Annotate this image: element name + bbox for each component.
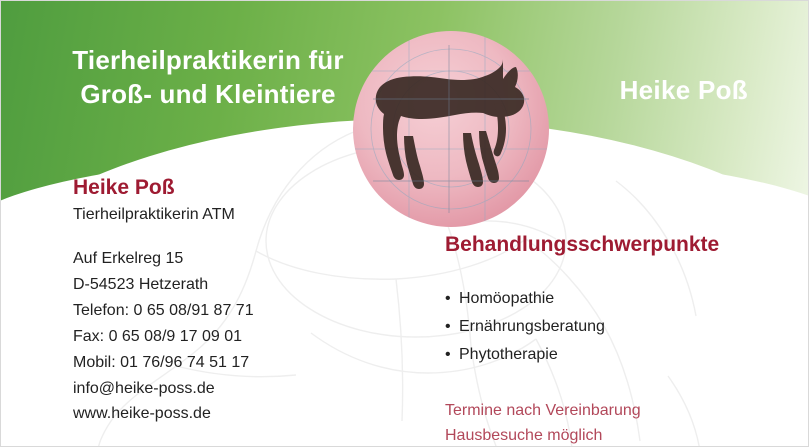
contact-mobile: Mobil: 01 76/96 74 51 17	[73, 350, 403, 376]
headline-line-2: Groß- und Kleintiere	[43, 77, 373, 111]
list-item: Phytotherapie	[445, 341, 785, 369]
contact-website[interactable]: www.heike-poss.de	[73, 401, 403, 427]
contact-name: Heike Poß	[73, 176, 403, 200]
name-heading-top: Heike Poß	[620, 75, 748, 106]
contact-city: D-54523 Hetzerath	[73, 272, 403, 298]
services-block: Behandlungsschwerpunkte Homöopathie Ernä…	[445, 233, 785, 447]
services-title: Behandlungsschwerpunkte	[445, 233, 785, 257]
headline: Tierheilpraktikerin für Groß- und Kleint…	[43, 43, 373, 112]
headline-line-1: Tierheilpraktikerin für	[43, 43, 373, 77]
note-appointments: Termine nach Vereinbarung	[445, 399, 785, 424]
note-home-visits: Hausbesuche möglich	[445, 424, 785, 447]
contact-fax: Fax: 0 65 08/9 17 09 01	[73, 324, 403, 350]
contact-profession: Tierheilpraktikerin ATM	[73, 206, 403, 224]
list-item: Homöopathie	[445, 285, 785, 313]
business-card: Tierheilpraktikerin für Groß- und Kleint…	[0, 0, 809, 447]
contact-email[interactable]: info@heike-poss.de	[73, 376, 403, 402]
services-list: Homöopathie Ernährungsberatung Phytother…	[445, 285, 785, 369]
contact-block: Heike Poß Tierheilpraktikerin ATM Auf Er…	[73, 176, 403, 427]
contact-street: Auf Erkelreg 15	[73, 246, 403, 272]
list-item: Ernährungsberatung	[445, 313, 785, 341]
contact-phone: Telefon: 0 65 08/91 87 71	[73, 298, 403, 324]
